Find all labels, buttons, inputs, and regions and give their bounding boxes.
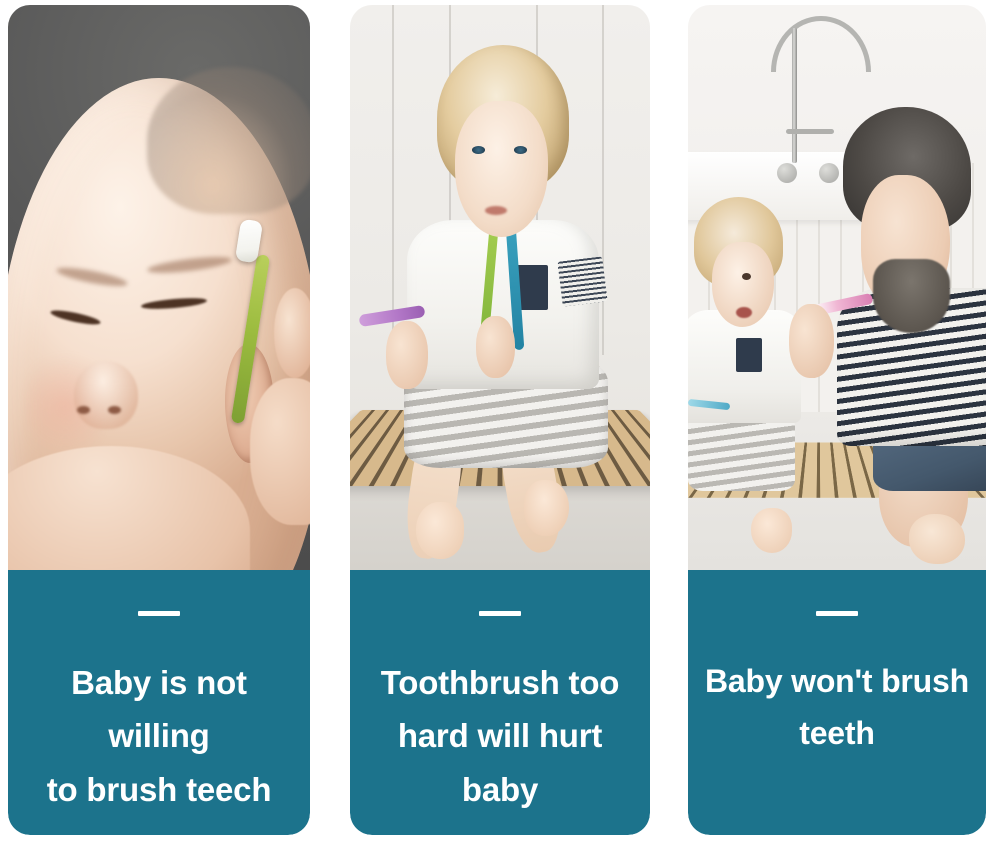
divider-dash-icon [479, 611, 521, 616]
image-caption-board: Baby is not willing to brush teech [0, 0, 994, 852]
toddler-hand-right [476, 316, 515, 378]
baby-hair [147, 67, 310, 214]
father-foot [909, 514, 966, 565]
caption-panel-2: Toothbrush too hard will hurt baby [350, 570, 650, 835]
caption-line-1: Baby is not willing [17, 656, 301, 763]
faucet-stem [792, 28, 797, 164]
caption-line-1: Baby won't brush [697, 656, 977, 708]
caption-line-2: teeth [697, 708, 977, 760]
toddler-foot-right [524, 480, 569, 537]
shirt-sleeve-stripes [557, 257, 607, 307]
caption-line-1: Toothbrush too [359, 656, 641, 709]
divider-dash-icon [816, 611, 858, 616]
toddler-foot-left [416, 502, 464, 559]
card-toothbrush-too-hard[interactable]: Toothbrush too hard will hurt baby [350, 5, 650, 835]
caption-line-2: hard will hurt baby [359, 709, 641, 816]
toddler-eye-left [472, 146, 485, 154]
toddler-eye-right [514, 146, 527, 154]
child-foot [751, 508, 793, 553]
father-hand [789, 304, 834, 377]
toddler-mouth [485, 206, 507, 215]
divider-dash-icon [138, 611, 180, 616]
caption-panel-3: Baby won't brush teeth [688, 570, 986, 835]
child-open-mouth [736, 307, 752, 318]
card-baby-wont-brush[interactable]: Baby won't brush teeth [688, 5, 986, 835]
faucet-spout [786, 129, 834, 134]
toddler-hand-left [386, 321, 428, 389]
wall-plank-line [392, 5, 394, 355]
adult-finger [274, 288, 310, 378]
baby-nostril-right [108, 406, 121, 414]
photo-toddler-brushing [350, 5, 650, 570]
father-beard [873, 259, 950, 332]
caption-line-2: to brush teech [17, 763, 301, 816]
wall-plank-line [602, 5, 604, 355]
caption-text-1: Baby is not willing to brush teech [17, 656, 301, 816]
caption-text-2: Toothbrush too hard will hurt baby [359, 656, 641, 816]
child-striped-pants [688, 412, 795, 491]
caption-text-3: Baby won't brush teeth [697, 656, 977, 760]
card-baby-not-willing[interactable]: Baby is not willing to brush teech [8, 5, 310, 835]
photo-father-and-child [688, 5, 986, 570]
photo-crying-baby [8, 5, 310, 570]
caption-panel-1: Baby is not willing to brush teech [8, 570, 310, 835]
baby-nose [74, 361, 137, 429]
toddler-face [455, 101, 548, 237]
child-shirt-pocket [736, 338, 763, 372]
